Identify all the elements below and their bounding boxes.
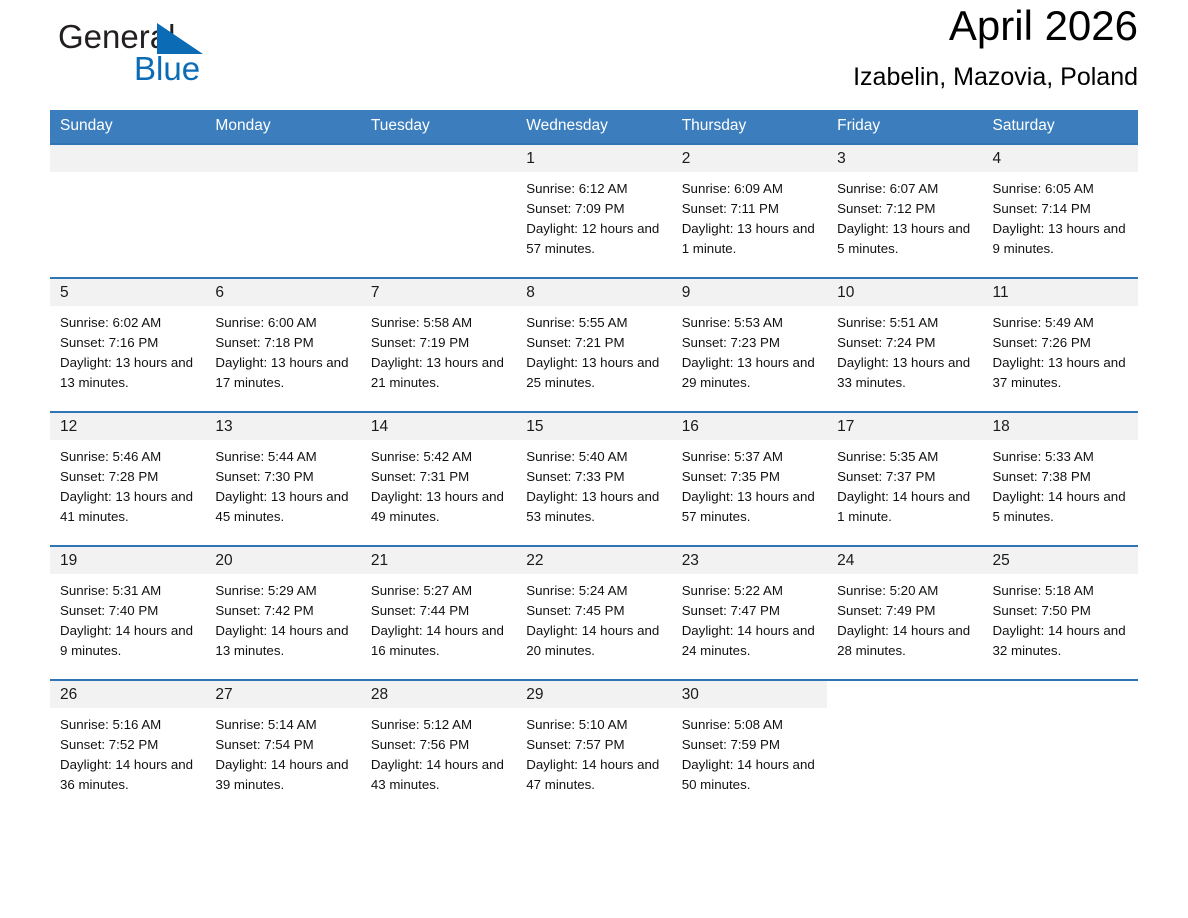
sunrise-text: Sunrise: 5:44 AM — [215, 447, 352, 467]
day-cell: 16Sunrise: 5:37 AMSunset: 7:35 PMDayligh… — [672, 413, 827, 545]
sunset-text: Sunset: 7:26 PM — [993, 333, 1130, 353]
calendar-cell-day-9[interactable]: 9Sunrise: 5:53 AMSunset: 7:23 PMDaylight… — [672, 278, 827, 412]
day-cell: 20Sunrise: 5:29 AMSunset: 7:42 PMDayligh… — [205, 547, 360, 679]
calendar-cell-day-23[interactable]: 23Sunrise: 5:22 AMSunset: 7:47 PMDayligh… — [672, 546, 827, 680]
daylight-text: Daylight: 14 hours and 24 minutes. — [682, 621, 819, 661]
day-number: 12 — [50, 413, 205, 440]
sunset-text: Sunset: 7:52 PM — [60, 735, 197, 755]
day-cell: 10Sunrise: 5:51 AMSunset: 7:24 PMDayligh… — [827, 279, 982, 411]
day-cell: 9Sunrise: 5:53 AMSunset: 7:23 PMDaylight… — [672, 279, 827, 411]
calendar-cell-empty — [983, 680, 1138, 813]
day-cell: 18Sunrise: 5:33 AMSunset: 7:38 PMDayligh… — [983, 413, 1138, 545]
day-info: Sunrise: 6:05 AMSunset: 7:14 PMDaylight:… — [983, 172, 1138, 259]
daylight-text: Daylight: 13 hours and 25 minutes. — [526, 353, 663, 393]
page-header: General Blue April 2026 Izabelin, Mazovi… — [50, 0, 1138, 110]
sunrise-text: Sunrise: 6:00 AM — [215, 313, 352, 333]
daylight-text: Daylight: 14 hours and 1 minute. — [837, 487, 974, 527]
calendar-cell-day-25[interactable]: 25Sunrise: 5:18 AMSunset: 7:50 PMDayligh… — [983, 546, 1138, 680]
day-cell: 26Sunrise: 5:16 AMSunset: 7:52 PMDayligh… — [50, 681, 205, 813]
daylight-text: Daylight: 13 hours and 45 minutes. — [215, 487, 352, 527]
day-info: Sunrise: 5:12 AMSunset: 7:56 PMDaylight:… — [361, 708, 516, 795]
calendar-cell-day-15[interactable]: 15Sunrise: 5:40 AMSunset: 7:33 PMDayligh… — [516, 412, 671, 546]
day-cell: 4Sunrise: 6:05 AMSunset: 7:14 PMDaylight… — [983, 145, 1138, 277]
sunrise-text: Sunrise: 6:07 AM — [837, 179, 974, 199]
calendar-cell-day-10[interactable]: 10Sunrise: 5:51 AMSunset: 7:24 PMDayligh… — [827, 278, 982, 412]
daylight-text: Daylight: 13 hours and 29 minutes. — [682, 353, 819, 393]
sunrise-text: Sunrise: 5:33 AM — [993, 447, 1130, 467]
sunset-text: Sunset: 7:23 PM — [682, 333, 819, 353]
sunset-text: Sunset: 7:47 PM — [682, 601, 819, 621]
day-info: Sunrise: 5:33 AMSunset: 7:38 PMDaylight:… — [983, 440, 1138, 527]
sunset-text: Sunset: 7:31 PM — [371, 467, 508, 487]
daylight-text: Daylight: 13 hours and 57 minutes. — [682, 487, 819, 527]
weekday-header-monday: Monday — [205, 110, 360, 144]
daylight-text: Daylight: 14 hours and 28 minutes. — [837, 621, 974, 661]
sunrise-text: Sunrise: 5:51 AM — [837, 313, 974, 333]
day-number: 29 — [516, 681, 671, 708]
day-number: 25 — [983, 547, 1138, 574]
calendar-cell-empty — [827, 680, 982, 813]
day-cell: 23Sunrise: 5:22 AMSunset: 7:47 PMDayligh… — [672, 547, 827, 679]
calendar-page: General Blue April 2026 Izabelin, Mazovi… — [0, 0, 1188, 918]
day-cell: 25Sunrise: 5:18 AMSunset: 7:50 PMDayligh… — [983, 547, 1138, 679]
day-cell: 28Sunrise: 5:12 AMSunset: 7:56 PMDayligh… — [361, 681, 516, 813]
day-info: Sunrise: 5:58 AMSunset: 7:19 PMDaylight:… — [361, 306, 516, 393]
day-info: Sunrise: 5:08 AMSunset: 7:59 PMDaylight:… — [672, 708, 827, 795]
sunset-text: Sunset: 7:09 PM — [526, 199, 663, 219]
sunrise-text: Sunrise: 5:35 AM — [837, 447, 974, 467]
sunset-text: Sunset: 7:28 PM — [60, 467, 197, 487]
sunrise-text: Sunrise: 5:29 AM — [215, 581, 352, 601]
calendar-cell-day-16[interactable]: 16Sunrise: 5:37 AMSunset: 7:35 PMDayligh… — [672, 412, 827, 546]
sunset-text: Sunset: 7:40 PM — [60, 601, 197, 621]
day-number: 5 — [50, 279, 205, 306]
sunrise-text: Sunrise: 5:14 AM — [215, 715, 352, 735]
weekday-header-friday: Friday — [827, 110, 982, 144]
day-cell: 7Sunrise: 5:58 AMSunset: 7:19 PMDaylight… — [361, 279, 516, 411]
calendar-cell-day-13[interactable]: 13Sunrise: 5:44 AMSunset: 7:30 PMDayligh… — [205, 412, 360, 546]
day-number: 2 — [672, 145, 827, 172]
sunset-text: Sunset: 7:24 PM — [837, 333, 974, 353]
day-cell-empty — [827, 681, 982, 813]
sunrise-text: Sunrise: 5:31 AM — [60, 581, 197, 601]
calendar-cell-empty — [205, 144, 360, 278]
weekday-header-thursday: Thursday — [672, 110, 827, 144]
day-info: Sunrise: 5:42 AMSunset: 7:31 PMDaylight:… — [361, 440, 516, 527]
daylight-text: Daylight: 14 hours and 20 minutes. — [526, 621, 663, 661]
calendar-body: 1Sunrise: 6:12 AMSunset: 7:09 PMDaylight… — [50, 144, 1138, 813]
sunrise-text: Sunrise: 5:18 AM — [993, 581, 1130, 601]
sunset-text: Sunset: 7:42 PM — [215, 601, 352, 621]
calendar-cell-day-6[interactable]: 6Sunrise: 6:00 AMSunset: 7:18 PMDaylight… — [205, 278, 360, 412]
sunrise-text: Sunrise: 5:22 AM — [682, 581, 819, 601]
sunset-text: Sunset: 7:35 PM — [682, 467, 819, 487]
day-info: Sunrise: 5:37 AMSunset: 7:35 PMDaylight:… — [672, 440, 827, 527]
day-number: 22 — [516, 547, 671, 574]
day-number: 10 — [827, 279, 982, 306]
general-blue-logo: General Blue — [58, 12, 258, 92]
sunset-text: Sunset: 7:59 PM — [682, 735, 819, 755]
day-info: Sunrise: 5:29 AMSunset: 7:42 PMDaylight:… — [205, 574, 360, 661]
sunset-text: Sunset: 7:50 PM — [993, 601, 1130, 621]
day-number: 19 — [50, 547, 205, 574]
calendar-cell-day-17[interactable]: 17Sunrise: 5:35 AMSunset: 7:37 PMDayligh… — [827, 412, 982, 546]
sunrise-text: Sunrise: 5:58 AM — [371, 313, 508, 333]
daylight-text: Daylight: 13 hours and 33 minutes. — [837, 353, 974, 393]
calendar-cell-day-19[interactable]: 19Sunrise: 5:31 AMSunset: 7:40 PMDayligh… — [50, 546, 205, 680]
day-info: Sunrise: 5:27 AMSunset: 7:44 PMDaylight:… — [361, 574, 516, 661]
day-info: Sunrise: 5:10 AMSunset: 7:57 PMDaylight:… — [516, 708, 671, 795]
day-number-band — [205, 145, 360, 172]
sunrise-sunset-calendar: Sunday Monday Tuesday Wednesday Thursday… — [50, 110, 1138, 813]
sunset-text: Sunset: 7:12 PM — [837, 199, 974, 219]
daylight-text: Daylight: 13 hours and 21 minutes. — [371, 353, 508, 393]
day-info: Sunrise: 6:07 AMSunset: 7:12 PMDaylight:… — [827, 172, 982, 259]
day-info: Sunrise: 6:02 AMSunset: 7:16 PMDaylight:… — [50, 306, 205, 393]
daylight-text: Daylight: 13 hours and 49 minutes. — [371, 487, 508, 527]
day-cell: 13Sunrise: 5:44 AMSunset: 7:30 PMDayligh… — [205, 413, 360, 545]
day-number: 1 — [516, 145, 671, 172]
calendar-cell-day-12[interactable]: 12Sunrise: 5:46 AMSunset: 7:28 PMDayligh… — [50, 412, 205, 546]
day-cell: 15Sunrise: 5:40 AMSunset: 7:33 PMDayligh… — [516, 413, 671, 545]
sunrise-text: Sunrise: 5:37 AM — [682, 447, 819, 467]
day-cell: 30Sunrise: 5:08 AMSunset: 7:59 PMDayligh… — [672, 681, 827, 813]
sunrise-text: Sunrise: 6:05 AM — [993, 179, 1130, 199]
calendar-cell-day-8[interactable]: 8Sunrise: 5:55 AMSunset: 7:21 PMDaylight… — [516, 278, 671, 412]
daylight-text: Daylight: 13 hours and 5 minutes. — [837, 219, 974, 259]
calendar-cell-day-21[interactable]: 21Sunrise: 5:27 AMSunset: 7:44 PMDayligh… — [361, 546, 516, 680]
calendar-cell-empty — [50, 144, 205, 278]
day-cell: 24Sunrise: 5:20 AMSunset: 7:49 PMDayligh… — [827, 547, 982, 679]
daylight-text: Daylight: 14 hours and 39 minutes. — [215, 755, 352, 795]
day-number-band — [361, 145, 516, 172]
day-number: 26 — [50, 681, 205, 708]
day-cell: 22Sunrise: 5:24 AMSunset: 7:45 PMDayligh… — [516, 547, 671, 679]
sunrise-text: Sunrise: 6:02 AM — [60, 313, 197, 333]
sunrise-text: Sunrise: 5:24 AM — [526, 581, 663, 601]
daylight-text: Daylight: 13 hours and 17 minutes. — [215, 353, 352, 393]
day-cell-empty — [205, 145, 360, 277]
day-info: Sunrise: 6:12 AMSunset: 7:09 PMDaylight:… — [516, 172, 671, 259]
day-number-band — [50, 145, 205, 172]
day-number: 17 — [827, 413, 982, 440]
sunrise-text: Sunrise: 5:49 AM — [993, 313, 1130, 333]
day-info: Sunrise: 5:40 AMSunset: 7:33 PMDaylight:… — [516, 440, 671, 527]
day-cell: 2Sunrise: 6:09 AMSunset: 7:11 PMDaylight… — [672, 145, 827, 277]
day-info: Sunrise: 5:31 AMSunset: 7:40 PMDaylight:… — [50, 574, 205, 661]
sunset-text: Sunset: 7:56 PM — [371, 735, 508, 755]
sunset-text: Sunset: 7:14 PM — [993, 199, 1130, 219]
day-info: Sunrise: 5:46 AMSunset: 7:28 PMDaylight:… — [50, 440, 205, 527]
logo-text-blue: Blue — [134, 50, 200, 88]
day-cell: 19Sunrise: 5:31 AMSunset: 7:40 PMDayligh… — [50, 547, 205, 679]
sunset-text: Sunset: 7:45 PM — [526, 601, 663, 621]
day-number: 27 — [205, 681, 360, 708]
sunrise-text: Sunrise: 5:27 AM — [371, 581, 508, 601]
weekday-header-wednesday: Wednesday — [516, 110, 671, 144]
day-cell-empty — [983, 681, 1138, 813]
day-info: Sunrise: 5:49 AMSunset: 7:26 PMDaylight:… — [983, 306, 1138, 393]
day-info: Sunrise: 5:51 AMSunset: 7:24 PMDaylight:… — [827, 306, 982, 393]
daylight-text: Daylight: 14 hours and 9 minutes. — [60, 621, 197, 661]
daylight-text: Daylight: 14 hours and 16 minutes. — [371, 621, 508, 661]
day-number: 6 — [205, 279, 360, 306]
calendar-cell-day-1[interactable]: 1Sunrise: 6:12 AMSunset: 7:09 PMDaylight… — [516, 144, 671, 278]
calendar-cell-day-18[interactable]: 18Sunrise: 5:33 AMSunset: 7:38 PMDayligh… — [983, 412, 1138, 546]
sunset-text: Sunset: 7:54 PM — [215, 735, 352, 755]
sunset-text: Sunset: 7:21 PM — [526, 333, 663, 353]
day-number: 28 — [361, 681, 516, 708]
day-cell-empty — [50, 145, 205, 277]
sunset-text: Sunset: 7:19 PM — [371, 333, 508, 353]
sunrise-text: Sunrise: 5:08 AM — [682, 715, 819, 735]
sunset-text: Sunset: 7:44 PM — [371, 601, 508, 621]
daylight-text: Daylight: 14 hours and 43 minutes. — [371, 755, 508, 795]
calendar-cell-day-20[interactable]: 20Sunrise: 5:29 AMSunset: 7:42 PMDayligh… — [205, 546, 360, 680]
day-number: 8 — [516, 279, 671, 306]
sunrise-text: Sunrise: 5:40 AM — [526, 447, 663, 467]
calendar-week-row: 12Sunrise: 5:46 AMSunset: 7:28 PMDayligh… — [50, 412, 1138, 546]
sunrise-text: Sunrise: 5:12 AM — [371, 715, 508, 735]
page-title: April 2026 — [853, 0, 1138, 52]
sunrise-text: Sunrise: 5:53 AM — [682, 313, 819, 333]
day-info: Sunrise: 5:22 AMSunset: 7:47 PMDaylight:… — [672, 574, 827, 661]
sunrise-text: Sunrise: 5:20 AM — [837, 581, 974, 601]
day-info: Sunrise: 5:53 AMSunset: 7:23 PMDaylight:… — [672, 306, 827, 393]
day-cell: 14Sunrise: 5:42 AMSunset: 7:31 PMDayligh… — [361, 413, 516, 545]
calendar-cell-day-26[interactable]: 26Sunrise: 5:16 AMSunset: 7:52 PMDayligh… — [50, 680, 205, 813]
day-cell: 5Sunrise: 6:02 AMSunset: 7:16 PMDaylight… — [50, 279, 205, 411]
calendar-week-row: 26Sunrise: 5:16 AMSunset: 7:52 PMDayligh… — [50, 680, 1138, 813]
day-info: Sunrise: 5:18 AMSunset: 7:50 PMDaylight:… — [983, 574, 1138, 661]
sunset-text: Sunset: 7:30 PM — [215, 467, 352, 487]
sunrise-text: Sunrise: 6:12 AM — [526, 179, 663, 199]
title-block: April 2026 Izabelin, Mazovia, Poland — [853, 0, 1138, 94]
day-cell: 27Sunrise: 5:14 AMSunset: 7:54 PMDayligh… — [205, 681, 360, 813]
weekday-header-saturday: Saturday — [983, 110, 1138, 144]
day-info: Sunrise: 5:44 AMSunset: 7:30 PMDaylight:… — [205, 440, 360, 527]
day-number: 11 — [983, 279, 1138, 306]
sunrise-text: Sunrise: 5:46 AM — [60, 447, 197, 467]
day-info: Sunrise: 5:55 AMSunset: 7:21 PMDaylight:… — [516, 306, 671, 393]
day-number: 18 — [983, 413, 1138, 440]
weekday-header-sunday: Sunday — [50, 110, 205, 144]
day-number: 16 — [672, 413, 827, 440]
calendar-cell-day-11[interactable]: 11Sunrise: 5:49 AMSunset: 7:26 PMDayligh… — [983, 278, 1138, 412]
day-number: 13 — [205, 413, 360, 440]
day-cell: 6Sunrise: 6:00 AMSunset: 7:18 PMDaylight… — [205, 279, 360, 411]
day-cell: 21Sunrise: 5:27 AMSunset: 7:44 PMDayligh… — [361, 547, 516, 679]
day-cell: 1Sunrise: 6:12 AMSunset: 7:09 PMDaylight… — [516, 145, 671, 277]
daylight-text: Daylight: 14 hours and 5 minutes. — [993, 487, 1130, 527]
daylight-text: Daylight: 14 hours and 50 minutes. — [682, 755, 819, 795]
day-number: 15 — [516, 413, 671, 440]
daylight-text: Daylight: 13 hours and 1 minute. — [682, 219, 819, 259]
calendar-cell-empty — [361, 144, 516, 278]
daylight-text: Daylight: 13 hours and 53 minutes. — [526, 487, 663, 527]
sunset-text: Sunset: 7:49 PM — [837, 601, 974, 621]
day-info: Sunrise: 5:24 AMSunset: 7:45 PMDaylight:… — [516, 574, 671, 661]
daylight-text: Daylight: 14 hours and 13 minutes. — [215, 621, 352, 661]
sunrise-text: Sunrise: 5:16 AM — [60, 715, 197, 735]
daylight-text: Daylight: 13 hours and 9 minutes. — [993, 219, 1130, 259]
page-subtitle: Izabelin, Mazovia, Poland — [853, 60, 1138, 94]
day-cell: 29Sunrise: 5:10 AMSunset: 7:57 PMDayligh… — [516, 681, 671, 813]
daylight-text: Daylight: 13 hours and 13 minutes. — [60, 353, 197, 393]
day-number: 7 — [361, 279, 516, 306]
calendar-cell-day-22[interactable]: 22Sunrise: 5:24 AMSunset: 7:45 PMDayligh… — [516, 546, 671, 680]
sunset-text: Sunset: 7:57 PM — [526, 735, 663, 755]
calendar-cell-day-3[interactable]: 3Sunrise: 6:07 AMSunset: 7:12 PMDaylight… — [827, 144, 982, 278]
day-info: Sunrise: 5:20 AMSunset: 7:49 PMDaylight:… — [827, 574, 982, 661]
day-number: 24 — [827, 547, 982, 574]
sunrise-text: Sunrise: 5:42 AM — [371, 447, 508, 467]
day-number: 20 — [205, 547, 360, 574]
weekday-header-tuesday: Tuesday — [361, 110, 516, 144]
day-number: 23 — [672, 547, 827, 574]
day-info: Sunrise: 5:16 AMSunset: 7:52 PMDaylight:… — [50, 708, 205, 795]
daylight-text: Daylight: 12 hours and 57 minutes. — [526, 219, 663, 259]
sunset-text: Sunset: 7:11 PM — [682, 199, 819, 219]
sunrise-text: Sunrise: 6:09 AM — [682, 179, 819, 199]
calendar-cell-day-30[interactable]: 30Sunrise: 5:08 AMSunset: 7:59 PMDayligh… — [672, 680, 827, 813]
day-info: Sunrise: 5:35 AMSunset: 7:37 PMDaylight:… — [827, 440, 982, 527]
day-info: Sunrise: 6:09 AMSunset: 7:11 PMDaylight:… — [672, 172, 827, 259]
sunrise-text: Sunrise: 5:10 AM — [526, 715, 663, 735]
daylight-text: Daylight: 14 hours and 47 minutes. — [526, 755, 663, 795]
day-info: Sunrise: 6:00 AMSunset: 7:18 PMDaylight:… — [205, 306, 360, 393]
day-number: 14 — [361, 413, 516, 440]
sunset-text: Sunset: 7:16 PM — [60, 333, 197, 353]
calendar-week-row: 1Sunrise: 6:12 AMSunset: 7:09 PMDaylight… — [50, 144, 1138, 278]
day-cell: 8Sunrise: 5:55 AMSunset: 7:21 PMDaylight… — [516, 279, 671, 411]
sunset-text: Sunset: 7:37 PM — [837, 467, 974, 487]
sunrise-text: Sunrise: 5:55 AM — [526, 313, 663, 333]
day-cell: 17Sunrise: 5:35 AMSunset: 7:37 PMDayligh… — [827, 413, 982, 545]
calendar-week-row: 19Sunrise: 5:31 AMSunset: 7:40 PMDayligh… — [50, 546, 1138, 680]
day-number: 9 — [672, 279, 827, 306]
calendar-cell-day-27[interactable]: 27Sunrise: 5:14 AMSunset: 7:54 PMDayligh… — [205, 680, 360, 813]
calendar-cell-day-24[interactable]: 24Sunrise: 5:20 AMSunset: 7:49 PMDayligh… — [827, 546, 982, 680]
day-cell: 3Sunrise: 6:07 AMSunset: 7:12 PMDaylight… — [827, 145, 982, 277]
day-info: Sunrise: 5:14 AMSunset: 7:54 PMDaylight:… — [205, 708, 360, 795]
day-cell-empty — [361, 145, 516, 277]
daylight-text: Daylight: 14 hours and 32 minutes. — [993, 621, 1130, 661]
daylight-text: Daylight: 13 hours and 37 minutes. — [993, 353, 1130, 393]
calendar-cell-day-29[interactable]: 29Sunrise: 5:10 AMSunset: 7:57 PMDayligh… — [516, 680, 671, 813]
daylight-text: Daylight: 13 hours and 41 minutes. — [60, 487, 197, 527]
calendar-cell-day-7[interactable]: 7Sunrise: 5:58 AMSunset: 7:19 PMDaylight… — [361, 278, 516, 412]
day-number: 3 — [827, 145, 982, 172]
day-cell: 12Sunrise: 5:46 AMSunset: 7:28 PMDayligh… — [50, 413, 205, 545]
sunset-text: Sunset: 7:38 PM — [993, 467, 1130, 487]
daylight-text: Daylight: 14 hours and 36 minutes. — [60, 755, 197, 795]
day-number: 21 — [361, 547, 516, 574]
day-number: 4 — [983, 145, 1138, 172]
sunset-text: Sunset: 7:18 PM — [215, 333, 352, 353]
calendar-cell-day-14[interactable]: 14Sunrise: 5:42 AMSunset: 7:31 PMDayligh… — [361, 412, 516, 546]
calendar-cell-day-2[interactable]: 2Sunrise: 6:09 AMSunset: 7:11 PMDaylight… — [672, 144, 827, 278]
day-number: 30 — [672, 681, 827, 708]
day-cell: 11Sunrise: 5:49 AMSunset: 7:26 PMDayligh… — [983, 279, 1138, 411]
weekday-header-row: Sunday Monday Tuesday Wednesday Thursday… — [50, 110, 1138, 144]
calendar-cell-day-5[interactable]: 5Sunrise: 6:02 AMSunset: 7:16 PMDaylight… — [50, 278, 205, 412]
calendar-cell-day-4[interactable]: 4Sunrise: 6:05 AMSunset: 7:14 PMDaylight… — [983, 144, 1138, 278]
sunset-text: Sunset: 7:33 PM — [526, 467, 663, 487]
calendar-week-row: 5Sunrise: 6:02 AMSunset: 7:16 PMDaylight… — [50, 278, 1138, 412]
calendar-cell-day-28[interactable]: 28Sunrise: 5:12 AMSunset: 7:56 PMDayligh… — [361, 680, 516, 813]
